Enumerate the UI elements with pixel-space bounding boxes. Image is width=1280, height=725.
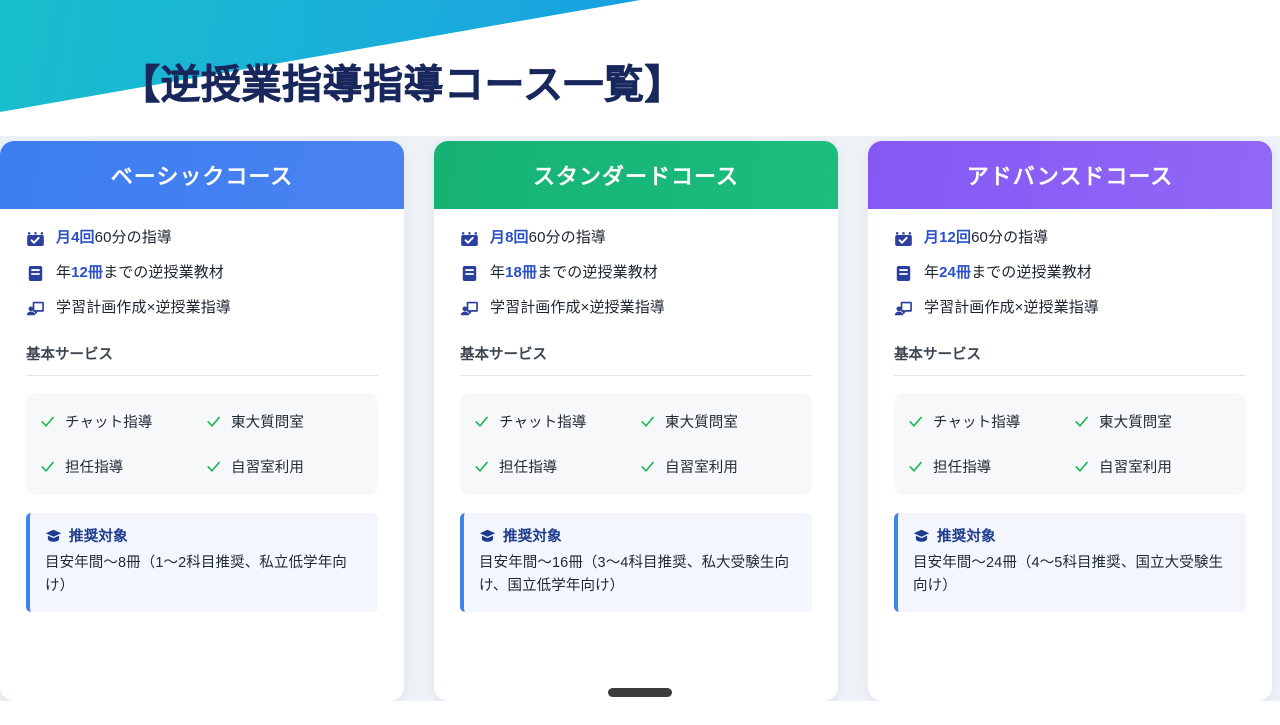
card-body-advanced: 月12回60分の指導 年24冊までの逆授業教材 学習計画作成×逆授業指導 基 [868, 209, 1272, 701]
feature-lessons-highlight: 月12回 [924, 229, 971, 246]
basic-services-panel-standard: チャット指導 東大質問室 担任指導 自習室利用 [460, 393, 812, 495]
check-label: 自習室利用 [665, 456, 738, 477]
feature-lessons: 月12回60分の指導 [894, 227, 1246, 249]
book-icon [894, 264, 913, 283]
check-icon [474, 414, 489, 429]
recommendation-header: 推奨対象 [479, 525, 796, 546]
section-label-standard: 基本サービス [460, 343, 812, 376]
basic-services-panel-basic: チャット指導 東大質問室 担任指導 自習室利用 [26, 393, 378, 495]
check-item-homeroom: 担任指導 [908, 456, 1066, 477]
recommendation-header: 推奨対象 [913, 525, 1230, 546]
section-label-basic: 基本サービス [26, 343, 378, 376]
basic-services-panel-advanced: チャット指導 東大質問室 担任指導 自習室利用 [894, 393, 1246, 495]
calendar-check-icon [894, 229, 913, 248]
check-icon [640, 414, 655, 429]
check-icon [908, 459, 923, 474]
check-icon [640, 459, 655, 474]
check-item-study-room: 自習室利用 [206, 456, 364, 477]
check-icon [474, 459, 489, 474]
feature-materials-rest: までの逆授業教材 [537, 264, 658, 281]
graduation-cap-icon [913, 529, 930, 543]
feature-lessons-text: 月4回60分の指導 [56, 229, 172, 248]
check-icon [206, 459, 221, 474]
feature-lessons-rest: 60分の指導 [529, 229, 606, 246]
feature-lessons: 月4回60分の指導 [26, 227, 378, 249]
check-item-chat: チャット指導 [908, 411, 1066, 432]
section-label-advanced: 基本サービス [894, 343, 1246, 376]
course-card-basic[interactable]: ベーシックコース 月4回60分の指導 年12冊までの逆授業教材 [0, 141, 404, 701]
card-header-basic: ベーシックコース [0, 141, 404, 209]
feature-materials-prefix: 年 [56, 264, 71, 281]
book-icon [26, 264, 45, 283]
check-label: チャット指導 [499, 411, 586, 432]
feature-planning-text: 学習計画作成×逆授業指導 [490, 299, 665, 318]
feature-materials-highlight: 24冊 [939, 264, 971, 281]
graduation-cap-icon [45, 529, 62, 543]
recommendation-title: 推奨対象 [937, 525, 996, 546]
presentation-person-icon [26, 299, 45, 318]
course-card-standard[interactable]: スタンダードコース 月8回60分の指導 年18冊までの逆授業教材 [434, 141, 838, 701]
presentation-person-icon [894, 299, 913, 318]
check-item-study-room: 自習室利用 [640, 456, 798, 477]
check-icon [40, 459, 55, 474]
recommendation-title: 推奨対象 [69, 525, 128, 546]
recommendation-header: 推奨対象 [45, 525, 362, 546]
graduation-cap-icon [479, 529, 496, 543]
book-icon [460, 264, 479, 283]
recommendation-text: 目安年間〜24冊（4〜5科目推奨、国立大受験生向け） [913, 552, 1230, 599]
check-label: 担任指導 [65, 456, 123, 477]
feature-planning: 学習計画作成×逆授業指導 [460, 297, 812, 319]
feature-materials: 年24冊までの逆授業教材 [894, 262, 1246, 284]
recommendation-title: 推奨対象 [503, 525, 562, 546]
feature-materials-text: 年12冊までの逆授業教材 [56, 264, 224, 283]
feature-planning-text: 学習計画作成×逆授業指導 [56, 299, 231, 318]
check-label: チャット指導 [933, 411, 1020, 432]
check-icon [1074, 414, 1089, 429]
feature-lessons-rest: 60分の指導 [971, 229, 1048, 246]
feature-lessons-highlight: 月4回 [56, 229, 95, 246]
calendar-check-icon [26, 229, 45, 248]
check-item-qa-room: 東大質問室 [1074, 411, 1232, 432]
calendar-check-icon [460, 229, 479, 248]
course-cards-row: ベーシックコース 月4回60分の指導 年12冊までの逆授業教材 [0, 141, 1280, 701]
hero-banner: 【逆授業指導指導コース一覧】 [0, 0, 1280, 136]
check-item-chat: チャット指導 [40, 411, 198, 432]
check-item-homeroom: 担任指導 [474, 456, 632, 477]
check-label: 自習室利用 [231, 456, 304, 477]
feature-materials-prefix: 年 [924, 264, 939, 281]
feature-planning: 学習計画作成×逆授業指導 [26, 297, 378, 319]
feature-lessons-highlight: 月8回 [490, 229, 529, 246]
check-icon [908, 414, 923, 429]
feature-materials: 年12冊までの逆授業教材 [26, 262, 378, 284]
feature-lessons: 月8回60分の指導 [460, 227, 812, 249]
card-body-standard: 月8回60分の指導 年18冊までの逆授業教材 学習計画作成×逆授業指導 基本 [434, 209, 838, 701]
feature-materials-rest: までの逆授業教材 [971, 264, 1092, 281]
check-item-homeroom: 担任指導 [40, 456, 198, 477]
check-item-chat: チャット指導 [474, 411, 632, 432]
feature-materials-prefix: 年 [490, 264, 505, 281]
drag-handle[interactable] [608, 688, 672, 697]
feature-lessons-rest: 60分の指導 [95, 229, 172, 246]
feature-lessons-text: 月12回60分の指導 [924, 229, 1048, 248]
feature-materials-highlight: 18冊 [505, 264, 537, 281]
feature-materials-text: 年18冊までの逆授業教材 [490, 264, 658, 283]
check-label: 担任指導 [933, 456, 991, 477]
check-item-qa-room: 東大質問室 [640, 411, 798, 432]
feature-planning-text: 学習計画作成×逆授業指導 [924, 299, 1099, 318]
recommendation-box-standard: 推奨対象 目安年間〜16冊（3〜4科目推奨、私大受験生向け、国立低学年向け） [460, 513, 812, 612]
feature-materials-text: 年24冊までの逆授業教材 [924, 264, 1092, 283]
feature-materials-rest: までの逆授業教材 [103, 264, 224, 281]
recommendation-text: 目安年間〜8冊（1〜2科目推奨、私立低学年向け） [45, 552, 362, 599]
feature-lessons-text: 月8回60分の指導 [490, 229, 606, 248]
recommendation-text: 目安年間〜16冊（3〜4科目推奨、私大受験生向け、国立低学年向け） [479, 552, 796, 599]
feature-materials-highlight: 12冊 [71, 264, 103, 281]
course-card-advanced[interactable]: アドバンスドコース 月12回60分の指導 年24冊までの逆授業教材 [868, 141, 1272, 701]
check-icon [1074, 459, 1089, 474]
recommendation-box-advanced: 推奨対象 目安年間〜24冊（4〜5科目推奨、国立大受験生向け） [894, 513, 1246, 612]
feature-planning: 学習計画作成×逆授業指導 [894, 297, 1246, 319]
card-header-standard: スタンダードコース [434, 141, 838, 209]
card-body-basic: 月4回60分の指導 年12冊までの逆授業教材 学習計画作成×逆授業指導 [0, 209, 404, 701]
check-icon [40, 414, 55, 429]
page-title: 【逆授業指導指導コース一覧】 [120, 52, 685, 110]
presentation-person-icon [460, 299, 479, 318]
bottom-strip [0, 701, 1280, 725]
check-label: 東大質問室 [1099, 411, 1172, 432]
check-item-qa-room: 東大質問室 [206, 411, 364, 432]
check-item-study-room: 自習室利用 [1074, 456, 1232, 477]
check-label: 東大質問室 [231, 411, 304, 432]
check-icon [206, 414, 221, 429]
check-label: 担任指導 [499, 456, 557, 477]
card-header-advanced: アドバンスドコース [868, 141, 1272, 209]
check-label: チャット指導 [65, 411, 152, 432]
feature-materials: 年18冊までの逆授業教材 [460, 262, 812, 284]
recommendation-box-basic: 推奨対象 目安年間〜8冊（1〜2科目推奨、私立低学年向け） [26, 513, 378, 612]
check-label: 自習室利用 [1099, 456, 1172, 477]
check-label: 東大質問室 [665, 411, 738, 432]
